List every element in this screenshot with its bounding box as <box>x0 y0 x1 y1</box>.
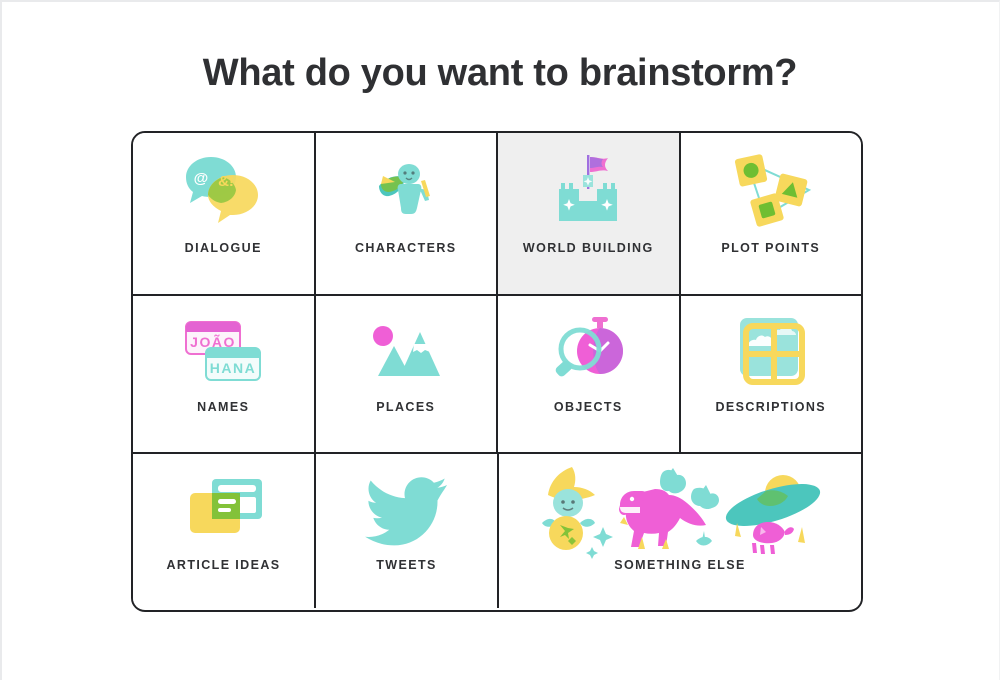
option-cell-dialogue[interactable]: @ &! DIALOGUE <box>133 133 314 294</box>
option-cell-places[interactable]: PLACES <box>314 296 497 452</box>
option-label: DIALOGUE <box>185 241 262 255</box>
option-label: OBJECTS <box>554 400 623 414</box>
window-clouds-icon <box>681 296 862 400</box>
sticky-notes-network-icon <box>681 133 862 241</box>
grid-row: @ &! DIALOGUE <box>133 133 861 294</box>
option-label: SOMETHING ELSE <box>614 558 745 572</box>
wizard-dinosaur-ufo-icon <box>499 454 861 558</box>
twitter-bird-icon <box>316 454 497 558</box>
option-label: PLOT POINTS <box>721 241 820 255</box>
newspaper-cards-icon <box>133 454 314 558</box>
grid-row: JOÃO HANA NAMES <box>133 294 861 454</box>
option-label: NAMES <box>197 400 249 414</box>
option-cell-something-else[interactable]: SOMETHING ELSE <box>497 454 861 608</box>
fairy-character-icon <box>316 133 497 241</box>
option-label: CHARACTERS <box>355 241 457 255</box>
option-label: WORLD BUILDING <box>523 241 654 255</box>
option-label: TWEETS <box>376 558 436 572</box>
brainstorm-options-grid: @ &! DIALOGUE <box>131 131 863 612</box>
brainstorm-picker-page: What do you want to brainstorm? @ &! DIA… <box>0 0 1000 680</box>
magnifier-stopwatch-icon <box>498 296 679 400</box>
grid-row: ARTICLE IDEAS TWEETS <box>133 454 861 608</box>
option-cell-plot-points[interactable]: PLOT POINTS <box>679 133 862 294</box>
speech-bubbles-icon: @ &! <box>133 133 314 241</box>
option-cell-names[interactable]: JOÃO HANA NAMES <box>133 296 314 452</box>
option-cell-tweets[interactable]: TWEETS <box>314 454 497 608</box>
option-label: PLACES <box>376 400 435 414</box>
name-tags-icon: JOÃO HANA <box>133 296 314 400</box>
option-cell-objects[interactable]: OBJECTS <box>496 296 679 452</box>
option-cell-characters[interactable]: CHARACTERS <box>314 133 497 294</box>
page-title: What do you want to brainstorm? <box>0 52 1000 95</box>
option-cell-article-ideas[interactable]: ARTICLE IDEAS <box>133 454 314 608</box>
dialogue-symbol-right: &! <box>218 173 234 190</box>
option-label: DESCRIPTIONS <box>715 400 826 414</box>
dialogue-symbol-left: @ <box>194 170 209 187</box>
name-tag-second: HANA <box>210 360 256 376</box>
option-cell-descriptions[interactable]: DESCRIPTIONS <box>679 296 862 452</box>
option-cell-world-building[interactable]: WORLD BUILDING <box>496 133 679 294</box>
mountains-sun-icon <box>316 296 497 400</box>
castle-icon <box>498 133 679 241</box>
option-label: ARTICLE IDEAS <box>166 558 280 572</box>
